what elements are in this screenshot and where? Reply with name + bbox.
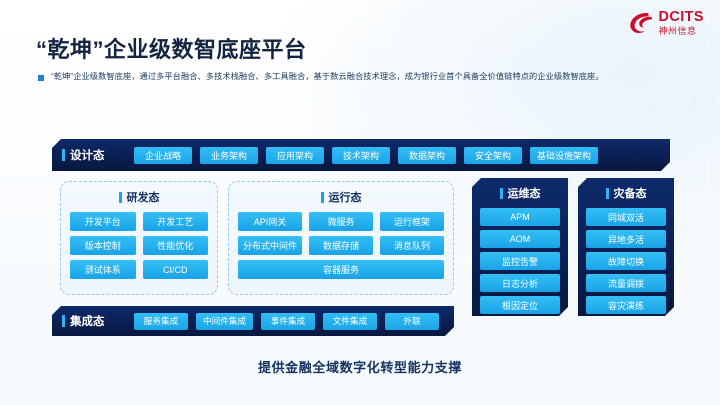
disaster-recovery-item-1[interactable]: 异地多活 [586,230,666,248]
section-runtime-header: 运行态 [238,189,444,205]
section-tick-icon [321,192,324,203]
runtime-item-5[interactable]: 消息队列 [380,236,444,255]
integration-item-4[interactable]: 外联 [385,313,439,330]
design-item-5[interactable]: 安全架构 [464,147,522,164]
design-item-6[interactable]: 基础设施架构 [530,147,598,164]
disaster-recovery-item-3[interactable]: 流量调拨 [586,274,666,292]
operations-item-2[interactable]: 监控告警 [480,252,560,270]
operations-item-3[interactable]: 日志分析 [480,274,560,292]
runtime-item-1[interactable]: 微服务 [309,212,373,231]
logo-text-cn: 神州信息 [659,27,705,36]
operations-item-0[interactable]: APM [480,208,560,226]
section-runtime-panel: 运行态 API网关 微服务 运行框架 分布式中间件 数据存储 消息队列 容器服务 [228,181,454,295]
integration-item-1[interactable]: 中间件集成 [196,313,253,330]
section-tick-icon [119,192,122,203]
integration-item-0[interactable]: 服务集成 [134,313,188,330]
development-item-2[interactable]: 版本控制 [70,236,136,255]
disaster-recovery-item-0[interactable]: 同城双活 [586,208,666,226]
section-development-label: 研发态 [127,189,160,205]
design-item-1[interactable]: 业务架构 [200,147,258,164]
logo-text-en: DCITS [659,10,705,25]
section-operations-label: 运维态 [508,185,541,201]
dcits-swoosh-icon [628,11,654,35]
development-item-1[interactable]: 开发工艺 [143,212,209,231]
design-item-4[interactable]: 数据架构 [398,147,456,164]
section-operations-panel: 运维态 APM AOM 监控告警 日志分析 根因定位 [472,178,568,316]
development-item-0[interactable]: 开发平台 [70,212,136,231]
integration-item-2[interactable]: 事件集成 [261,313,315,330]
runtime-item-2[interactable]: 运行框架 [380,212,444,231]
section-development-header: 研发态 [70,189,208,205]
section-runtime-items: API网关 微服务 运行框架 分布式中间件 数据存储 消息队列 容器服务 [238,212,444,279]
design-item-2[interactable]: 应用架构 [266,147,324,164]
section-development-panel: 研发态 开发平台 开发工艺 版本控制 性能优化 测试体系 CI/CD [60,181,218,295]
section-design-label: 设计态 [70,147,105,163]
runtime-item-0[interactable]: API网关 [238,212,302,231]
operations-item-4[interactable]: 根因定位 [480,296,560,314]
brand-logo: DCITS 神州信息 [628,10,705,36]
development-item-3[interactable]: 性能优化 [143,236,209,255]
section-operations-header: 运维态 [480,185,560,201]
section-disaster-recovery-panel: 灾备态 同城双活 异地多活 故障切换 流量调拨 容灾演练 [578,178,674,316]
section-integration-label-group: 集成态 [62,313,134,329]
subtitle-row: “乾坤”企业级数智底座，通过多平台融合、多技术栈融合、多工具融合，基于数云融合技… [38,71,688,82]
disaster-recovery-item-2[interactable]: 故障切换 [586,252,666,270]
section-tick-icon [62,315,65,327]
section-tick-icon [606,188,609,199]
section-tick-icon [62,149,65,161]
section-integration-bar: 集成态 服务集成 中间件集成 事件集成 文件集成 外联 [52,306,454,336]
page-title: “乾坤”企业级数智底座平台 [36,32,307,64]
section-integration-label: 集成态 [70,313,105,329]
section-runtime-label: 运行态 [329,189,362,205]
integration-item-3[interactable]: 文件集成 [323,313,377,330]
slide-canvas: DCITS 神州信息 “乾坤”企业级数智底座平台 “乾坤”企业级数智底座，通过多… [0,0,720,405]
section-design-bar: 设计态 企业战略 业务架构 应用架构 技术架构 数据架构 安全架构 基础设施架构 [52,139,670,171]
section-disaster-recovery-items: 同城双活 异地多活 故障切换 流量调拨 容灾演练 [586,208,666,314]
section-development-items: 开发平台 开发工艺 版本控制 性能优化 测试体系 CI/CD [70,212,208,279]
section-operations-items: APM AOM 监控告警 日志分析 根因定位 [480,208,560,314]
section-disaster-recovery-header: 灾备态 [586,185,666,201]
section-design-label-group: 设计态 [62,147,134,163]
runtime-item-container-service[interactable]: 容器服务 [238,260,444,279]
disaster-recovery-item-4[interactable]: 容灾演练 [586,296,666,314]
section-disaster-recovery-label: 灾备态 [614,185,647,201]
development-item-5[interactable]: CI/CD [143,260,209,279]
design-item-0[interactable]: 企业战略 [134,147,192,164]
operations-item-1[interactable]: AOM [480,230,560,248]
page-subtitle: “乾坤”企业级数智底座，通过多平台融合、多技术栈融合、多工具融合，基于数云融合技… [51,71,604,82]
section-tick-icon [500,188,503,199]
footer-caption: 提供金融全域数字化转型能力支撑 [0,357,720,376]
design-item-3[interactable]: 技术架构 [332,147,390,164]
bullet-square-icon [38,75,44,81]
development-item-4[interactable]: 测试体系 [70,260,136,279]
section-integration-items: 服务集成 中间件集成 事件集成 文件集成 外联 [134,313,439,330]
section-design-items: 企业战略 业务架构 应用架构 技术架构 数据架构 安全架构 基础设施架构 [134,147,598,164]
runtime-item-3[interactable]: 分布式中间件 [238,236,302,255]
runtime-item-4[interactable]: 数据存储 [309,236,373,255]
